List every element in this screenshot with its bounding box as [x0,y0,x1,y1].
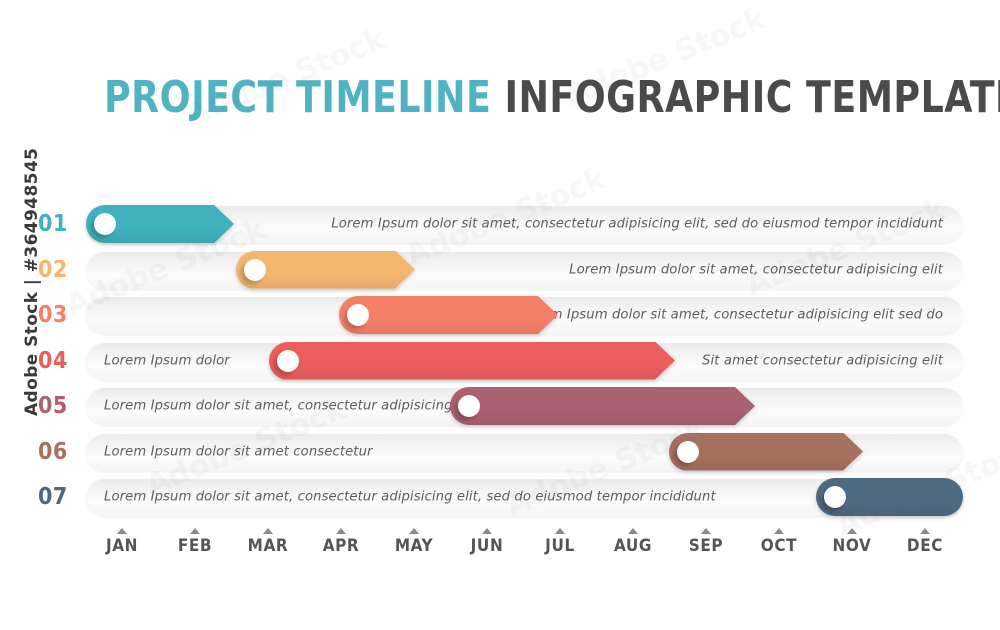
milestone-knob-icon[interactable] [277,350,299,372]
timeline-bar[interactable] [816,478,963,516]
timeline-row[interactable]: 02Lorem Ipsum dolor sit amet, consectetu… [0,251,1000,289]
triangle-up-icon [847,528,857,534]
timeline-bar[interactable] [450,387,755,425]
timeline-row[interactable]: 04Lorem Ipsum dolorSit amet consectetur … [0,342,1000,380]
timeline-row[interactable]: 06Lorem Ipsum dolor sit amet consectetur [0,433,1000,471]
month-tick-feb: FEB [155,528,235,556]
milestone-knob-icon[interactable] [94,213,116,235]
month-label: SEP [689,536,723,556]
timeline-bar[interactable] [269,342,675,380]
month-axis: JANFEBMARAPRMAYJUNJULAUGSEPOCTNOVDEC [0,528,1000,568]
month-label: JAN [106,536,138,556]
timeline-row[interactable]: 01Lorem Ipsum dolor sit amet, consectetu… [0,205,1000,243]
month-label: DEC [907,536,943,556]
row-number-label: 05 [38,393,68,419]
triangle-up-icon [190,528,200,534]
row-number-label: 02 [38,257,68,283]
task-description-left: Lorem Ipsum dolor [104,353,230,368]
month-label: OCT [761,536,797,556]
timeline-bar[interactable] [86,205,234,243]
month-tick-mar: MAR [228,528,308,556]
row-number-label: 04 [38,348,68,374]
triangle-up-icon [482,528,492,534]
row-number-label: 06 [38,439,68,465]
timeline-row[interactable]: 07Lorem Ipsum dolor sit amet, consectetu… [0,478,1000,516]
timeline-bar-fill [450,387,755,425]
month-label: MAR [248,536,289,556]
triangle-up-icon [774,528,784,534]
month-label: APR [323,536,360,556]
task-description-right: Lorem Ipsum dolor sit amet, consectetur … [331,217,943,232]
month-tick-jun: JUN [447,528,527,556]
task-description-left: Lorem Ipsum dolor sit amet, consectetur … [104,490,716,505]
month-label: JUL [545,536,575,556]
triangle-up-icon [263,528,273,534]
row-number-label: 07 [38,484,68,510]
timeline-bar[interactable] [669,433,863,471]
month-tick-nov: NOV [812,528,892,556]
timeline-bar[interactable] [236,251,415,289]
milestone-knob-icon[interactable] [824,486,846,508]
month-tick-oct: OCT [739,528,819,556]
task-description-right: Sit amet consectetur adipisicing elit [702,353,943,368]
row-number-label: 03 [38,302,68,328]
month-tick-sep: SEP [666,528,746,556]
timeline-bar-fill [269,342,675,380]
timeline-row[interactable]: 03Lorem Ipsum dolor sit amet, consectetu… [0,296,1000,334]
triangle-up-icon [920,528,930,534]
milestone-knob-icon[interactable] [677,441,699,463]
timeline-bar[interactable] [339,296,558,334]
timeline-track[interactable]: Lorem Ipsum dolor sit amet, consectetur … [86,251,963,289]
triangle-up-icon [117,528,127,534]
timeline-bar-fill [339,296,558,334]
triangle-up-icon [336,528,346,534]
task-description-right: Lorem Ipsum dolor sit amet, consectetur … [569,262,943,277]
task-description-left: Lorem Ipsum dolor sit amet consectetur [104,444,373,459]
milestone-knob-icon[interactable] [244,259,266,281]
month-label: NOV [833,536,872,556]
timeline-row[interactable]: 05Lorem Ipsum dolor sit amet, consectetu… [0,387,1000,425]
milestone-knob-icon[interactable] [347,304,369,326]
triangle-up-icon [555,528,565,534]
month-tick-aug: AUG [593,528,673,556]
month-label: JUN [471,536,504,556]
month-label: MAY [395,536,433,556]
task-description-left: Lorem Ipsum dolor sit amet, consectetur … [104,399,453,414]
month-tick-dec: DEC [885,528,965,556]
row-number-label: 01 [38,211,68,237]
triangle-up-icon [628,528,638,534]
month-tick-jan: JAN [82,528,162,556]
milestone-knob-icon[interactable] [458,395,480,417]
triangle-up-icon [701,528,711,534]
month-label: FEB [178,536,212,556]
month-tick-may: MAY [374,528,454,556]
month-tick-apr: APR [301,528,381,556]
month-tick-jul: JUL [520,528,600,556]
month-label: AUG [614,536,652,556]
task-description-right: Lorem Ipsum dolor sit amet, consectetur … [520,308,943,323]
triangle-up-icon [409,528,419,534]
